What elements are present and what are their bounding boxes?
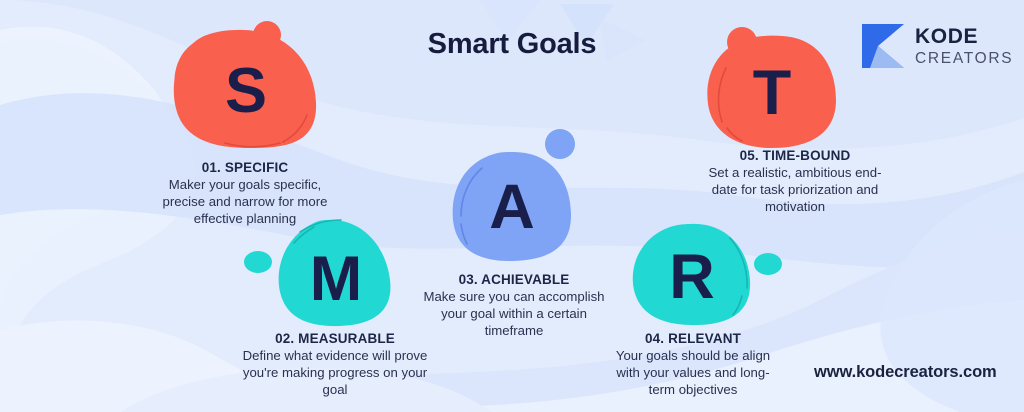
step-desc-time-bound: Set a realistic, ambitious end-date for …: [696, 165, 894, 216]
step-title-measurable: 02. MEASURABLE: [240, 331, 430, 346]
blob-letter-m: M: [294, 248, 378, 311]
blob-a-satellite-dot: [545, 129, 575, 159]
logo-sub-text: CREATORS: [915, 51, 1013, 67]
step-title-achievable: 03. ACHIEVABLE: [417, 272, 611, 287]
blob-letter-a: A: [472, 176, 552, 239]
blob-letter-t: T: [732, 62, 812, 125]
smart-goals-infographic: Smart Goals KODE CREATORS S M A R T 01. …: [0, 0, 1024, 412]
step-block-achievable: 03. ACHIEVABLE Make sure you can accompl…: [417, 272, 611, 340]
blob-m-satellite-dot: [244, 251, 272, 273]
step-desc-measurable: Define what evidence will prove you're m…: [240, 348, 430, 399]
step-title-time-bound: 05. TIME-BOUND: [696, 148, 894, 163]
step-block-relevant: 04. RELEVANT Your goals should be align …: [605, 331, 781, 399]
step-block-measurable: 02. MEASURABLE Define what evidence will…: [240, 331, 430, 399]
step-desc-achievable: Make sure you can accomplish your goal w…: [417, 289, 611, 340]
blob-letter-s: S: [206, 60, 286, 123]
step-block-specific: 01. SPECIFIC Maker your goals specific, …: [150, 160, 340, 228]
step-title-relevant: 04. RELEVANT: [605, 331, 781, 346]
blob-r-satellite-dot: [754, 253, 782, 275]
logo-brand-text: KODE: [915, 26, 1013, 47]
step-desc-specific: Maker your goals specific, precise and n…: [150, 177, 340, 228]
step-desc-relevant: Your goals should be align with your val…: [605, 348, 781, 399]
website-url[interactable]: www.kodecreators.com: [814, 363, 997, 382]
brand-logo[interactable]: KODE CREATORS: [862, 24, 1013, 68]
step-block-time-bound: 05. TIME-BOUND Set a realistic, ambitiou…: [696, 148, 894, 216]
kode-k-mark-icon: [862, 24, 904, 68]
step-title-specific: 01. SPECIFIC: [150, 160, 340, 175]
blob-letter-r: R: [652, 246, 732, 309]
